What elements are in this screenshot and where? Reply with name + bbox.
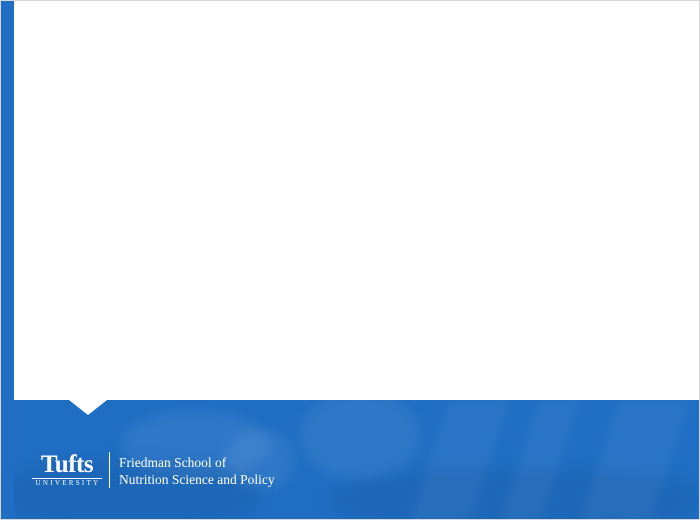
tufts-wordmark-text: Tufts [32, 452, 102, 477]
school-name: Friedman School of Nutrition Science and… [119, 452, 275, 489]
tufts-logo: Tufts UNIVERSITY Friedman School of Nutr… [32, 452, 275, 498]
tufts-university-text: UNIVERSITY [32, 480, 102, 487]
tufts-wordmark: Tufts UNIVERSITY [32, 452, 102, 487]
school-name-line1: Friedman School of [119, 454, 275, 471]
footer-notch [69, 400, 107, 415]
logo-divider [109, 452, 110, 488]
slide-content-area [14, 0, 700, 400]
school-name-line2: Nutrition Science and Policy [119, 471, 275, 488]
left-accent-bar [0, 0, 14, 520]
presentation-slide: Multi-level strategies to prevent overwe… [0, 0, 700, 520]
